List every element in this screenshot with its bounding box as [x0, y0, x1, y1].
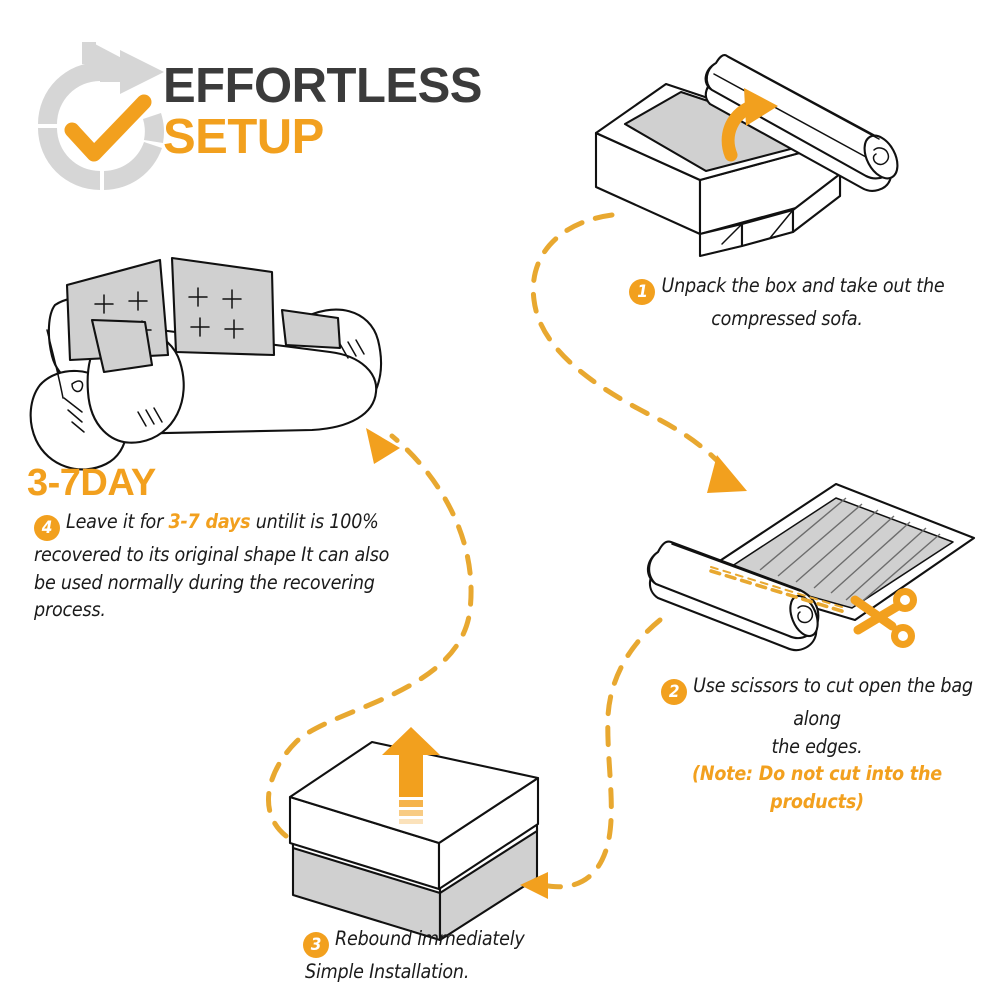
circular-arrow-check-icon [38, 42, 164, 190]
title-line-2: SETUP [163, 113, 583, 161]
step-4-prefix: Leave it for [66, 510, 168, 533]
step-3-line-1: Rebound immediately [335, 927, 525, 950]
step-badge-2: 2 [661, 679, 687, 705]
step-3-line-2: Simple Installation. [303, 958, 573, 986]
sofa-illustration [31, 258, 381, 469]
day-heading: 3-7DAY [27, 462, 156, 505]
step-2-text: 2Use scissors to cut open the bag along … [652, 672, 982, 816]
page-title: EFFORTLESS SETUP [163, 62, 583, 161]
step-1-line-2: compressed sofa. [601, 305, 973, 333]
step-2-note: (Note: Do not cut into the products) [652, 760, 982, 815]
step-1-line-1: Unpack the box and take out the [661, 274, 944, 297]
step-badge-4: 4 [34, 515, 60, 541]
step-4-text: 4Leave it for 3-7 days untilit is 100% r… [34, 508, 394, 624]
connector-box-to-bag [533, 215, 747, 493]
step-badge-3: 3 [303, 932, 329, 958]
step-4-highlight: 3-7 days [168, 510, 250, 533]
step-badge-1: 1 [629, 279, 655, 305]
step-2-line-1: Use scissors to cut open the bag along [693, 674, 973, 730]
title-line-1: EFFORTLESS [163, 62, 583, 110]
step-3-text: 3Rebound immediately Simple Installation… [303, 925, 573, 986]
foam-block-illustration [290, 727, 538, 940]
vacuum-bag-illustration [648, 484, 974, 650]
open-box-illustration [596, 55, 904, 256]
infographic-canvas: EFFORTLESS SETUP 3-7DAY 1Unpack the box … [0, 0, 1000, 1000]
connector-bag-to-foam [520, 620, 660, 899]
step-2-line-2: the edges. [652, 733, 982, 761]
step-1-text: 1Unpack the box and take out the compres… [601, 272, 973, 333]
